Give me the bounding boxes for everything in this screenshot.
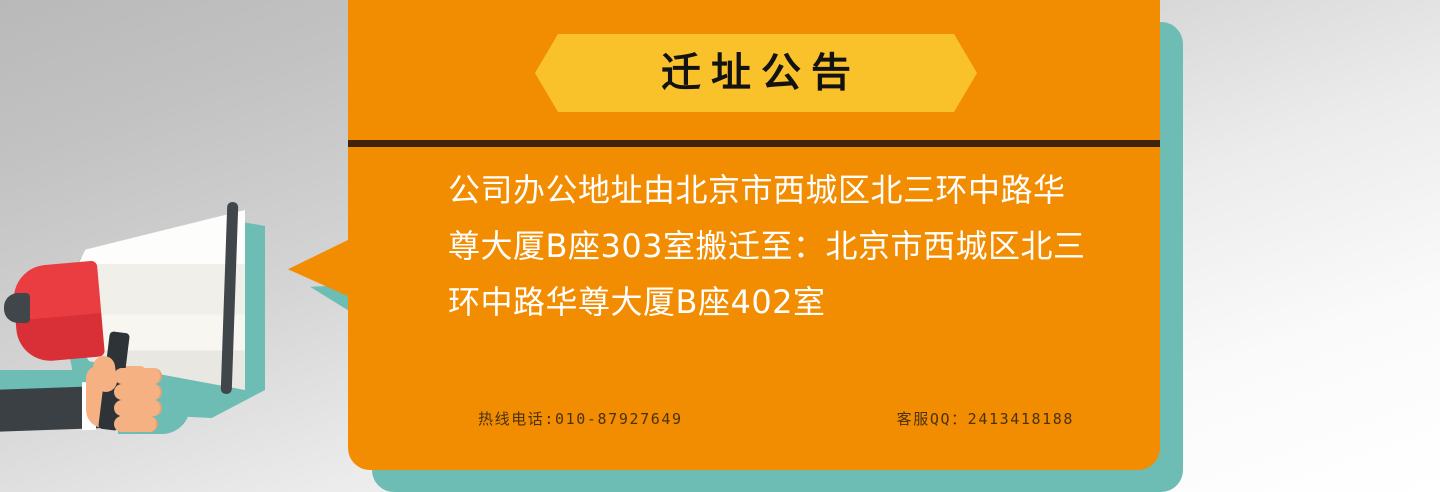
hotline-text: 热线电话:010-87927649 [478, 408, 683, 429]
hand-finger [114, 384, 162, 400]
hand-finger [114, 400, 162, 416]
announcement-body: 公司办公地址由北京市西城区北三环中路华 尊大厦B座303室搬迁至：北京市西城区北… [448, 162, 1096, 330]
announcement-footer: 热线电话:010-87927649 客服QQ：2413418188 [448, 408, 1108, 429]
announcement-body-line: 环中路华尊大厦B座402室 [448, 274, 1096, 330]
announcement-body-line: 尊大厦B座303室搬迁至：北京市西城区北三 [448, 218, 1096, 274]
announcement-title: 迁址公告 [651, 53, 861, 93]
announcement-body-line: 公司办公地址由北京市西城区北三环中路华 [448, 162, 1096, 218]
megaphone-knob [4, 293, 30, 323]
megaphone-illustration [0, 180, 350, 492]
customer-service-qq-text: 客服QQ：2413418188 [897, 408, 1074, 429]
title-ribbon: 迁址公告 [535, 34, 977, 112]
card-divider [348, 140, 1160, 147]
hand-finger [114, 416, 158, 432]
hand-finger [114, 368, 162, 384]
announcement-banner: 迁址公告 公司办公地址由北京市西城区北三环中路华 尊大厦B座303室搬迁至：北京… [0, 0, 1440, 492]
